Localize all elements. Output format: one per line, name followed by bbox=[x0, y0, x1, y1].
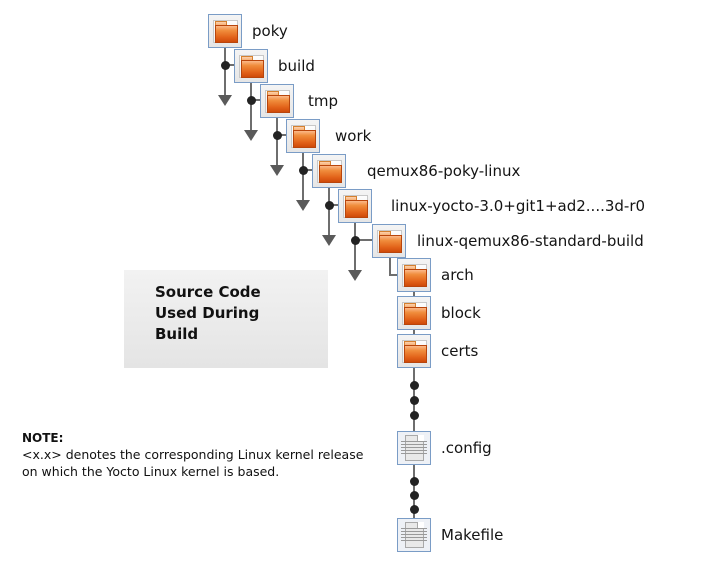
folder-icon bbox=[234, 49, 268, 83]
connector-vline-build bbox=[250, 83, 252, 130]
tree-node-label-block: block bbox=[441, 305, 481, 321]
source-code-callout-text: Source Code Used During Build bbox=[155, 282, 261, 345]
ellipsis-dot-1 bbox=[410, 381, 419, 390]
tree-node-label-qemux86-poky-linux: qemux86-poky-linux bbox=[367, 163, 520, 179]
folder-icon bbox=[208, 14, 242, 48]
note-block: NOTE: <x.x> denotes the corresponding Li… bbox=[22, 430, 382, 480]
connector-vline-qemux86 bbox=[328, 188, 330, 235]
tree-node-label-poky: poky bbox=[252, 23, 288, 39]
tree-node-label-makefile: Makefile bbox=[441, 527, 503, 543]
connector-vline-work bbox=[302, 153, 304, 200]
tree-node-config[interactable] bbox=[397, 431, 431, 465]
tree-node-block[interactable] bbox=[397, 296, 431, 330]
connector-dot-qemux86 bbox=[325, 201, 334, 210]
folder-icon bbox=[397, 296, 431, 330]
tree-node-label-arch: arch bbox=[441, 267, 474, 283]
connector-arrow-linuxyocto bbox=[348, 270, 362, 281]
callout-line-2: Used During bbox=[155, 303, 261, 324]
tree-node-label-tmp: tmp bbox=[308, 93, 338, 109]
tree-node-arch[interactable] bbox=[397, 258, 431, 292]
connector-arrow-poky bbox=[218, 95, 232, 106]
folder-icon bbox=[372, 224, 406, 258]
tree-node-linux-qemux86-standard-build[interactable] bbox=[372, 224, 406, 258]
callout-line-3: Build bbox=[155, 324, 261, 345]
folder-icon bbox=[397, 334, 431, 368]
file-icon bbox=[397, 431, 431, 465]
note-title: NOTE: bbox=[22, 430, 382, 446]
folder-icon bbox=[312, 154, 346, 188]
tree-node-poky[interactable] bbox=[208, 14, 242, 48]
connector-vline-tmp bbox=[276, 118, 278, 165]
tree-node-tmp[interactable] bbox=[260, 84, 294, 118]
callout-line-1: Source Code bbox=[155, 282, 261, 303]
directory-tree-diagram: poky build tmp work qemux86-poky-linux l… bbox=[0, 0, 705, 581]
connector-vline-poky bbox=[224, 48, 226, 95]
connector-dot-linuxyocto bbox=[351, 236, 360, 245]
tree-node-makefile[interactable] bbox=[397, 518, 431, 552]
tree-node-linux-yocto[interactable] bbox=[338, 189, 372, 223]
folder-icon bbox=[338, 189, 372, 223]
connector-arrow-work bbox=[296, 200, 310, 211]
folder-icon bbox=[286, 119, 320, 153]
note-body: <x.x> denotes the corresponding Linux ke… bbox=[22, 446, 382, 480]
tree-node-label-build: build bbox=[278, 58, 315, 74]
connector-arrow-qemux86 bbox=[322, 235, 336, 246]
file-icon bbox=[397, 518, 431, 552]
tree-node-build[interactable] bbox=[234, 49, 268, 83]
tree-node-certs[interactable] bbox=[397, 334, 431, 368]
source-code-callout-box: Source Code Used During Build bbox=[124, 270, 328, 368]
ellipsis-dot-3 bbox=[410, 411, 419, 420]
tree-node-label-linux-yocto: linux-yocto-3.0+git1+ad2....3d-r0 bbox=[391, 198, 645, 214]
ellipsis-dot-4 bbox=[410, 477, 419, 486]
connector-dot-poky bbox=[221, 61, 230, 70]
tree-node-work[interactable] bbox=[286, 119, 320, 153]
connector-vline-linuxyocto bbox=[354, 223, 356, 270]
connector-dot-tmp bbox=[273, 131, 282, 140]
ellipsis-dot-5 bbox=[410, 491, 419, 500]
connector-dot-work bbox=[299, 166, 308, 175]
tree-node-label-config: .config bbox=[441, 440, 492, 456]
connector-dot-build bbox=[247, 96, 256, 105]
connector-arrow-build bbox=[244, 130, 258, 141]
tree-node-label-work: work bbox=[335, 128, 371, 144]
folder-icon bbox=[260, 84, 294, 118]
ellipsis-dot-2 bbox=[410, 396, 419, 405]
connector-arrow-tmp bbox=[270, 165, 284, 176]
folder-icon bbox=[397, 258, 431, 292]
tree-node-label-certs: certs bbox=[441, 343, 478, 359]
ellipsis-dot-6 bbox=[410, 505, 419, 514]
tree-node-label-linux-qemux86-standard-build: linux-qemux86-standard-build bbox=[417, 233, 644, 249]
tree-node-qemux86-poky-linux[interactable] bbox=[312, 154, 346, 188]
